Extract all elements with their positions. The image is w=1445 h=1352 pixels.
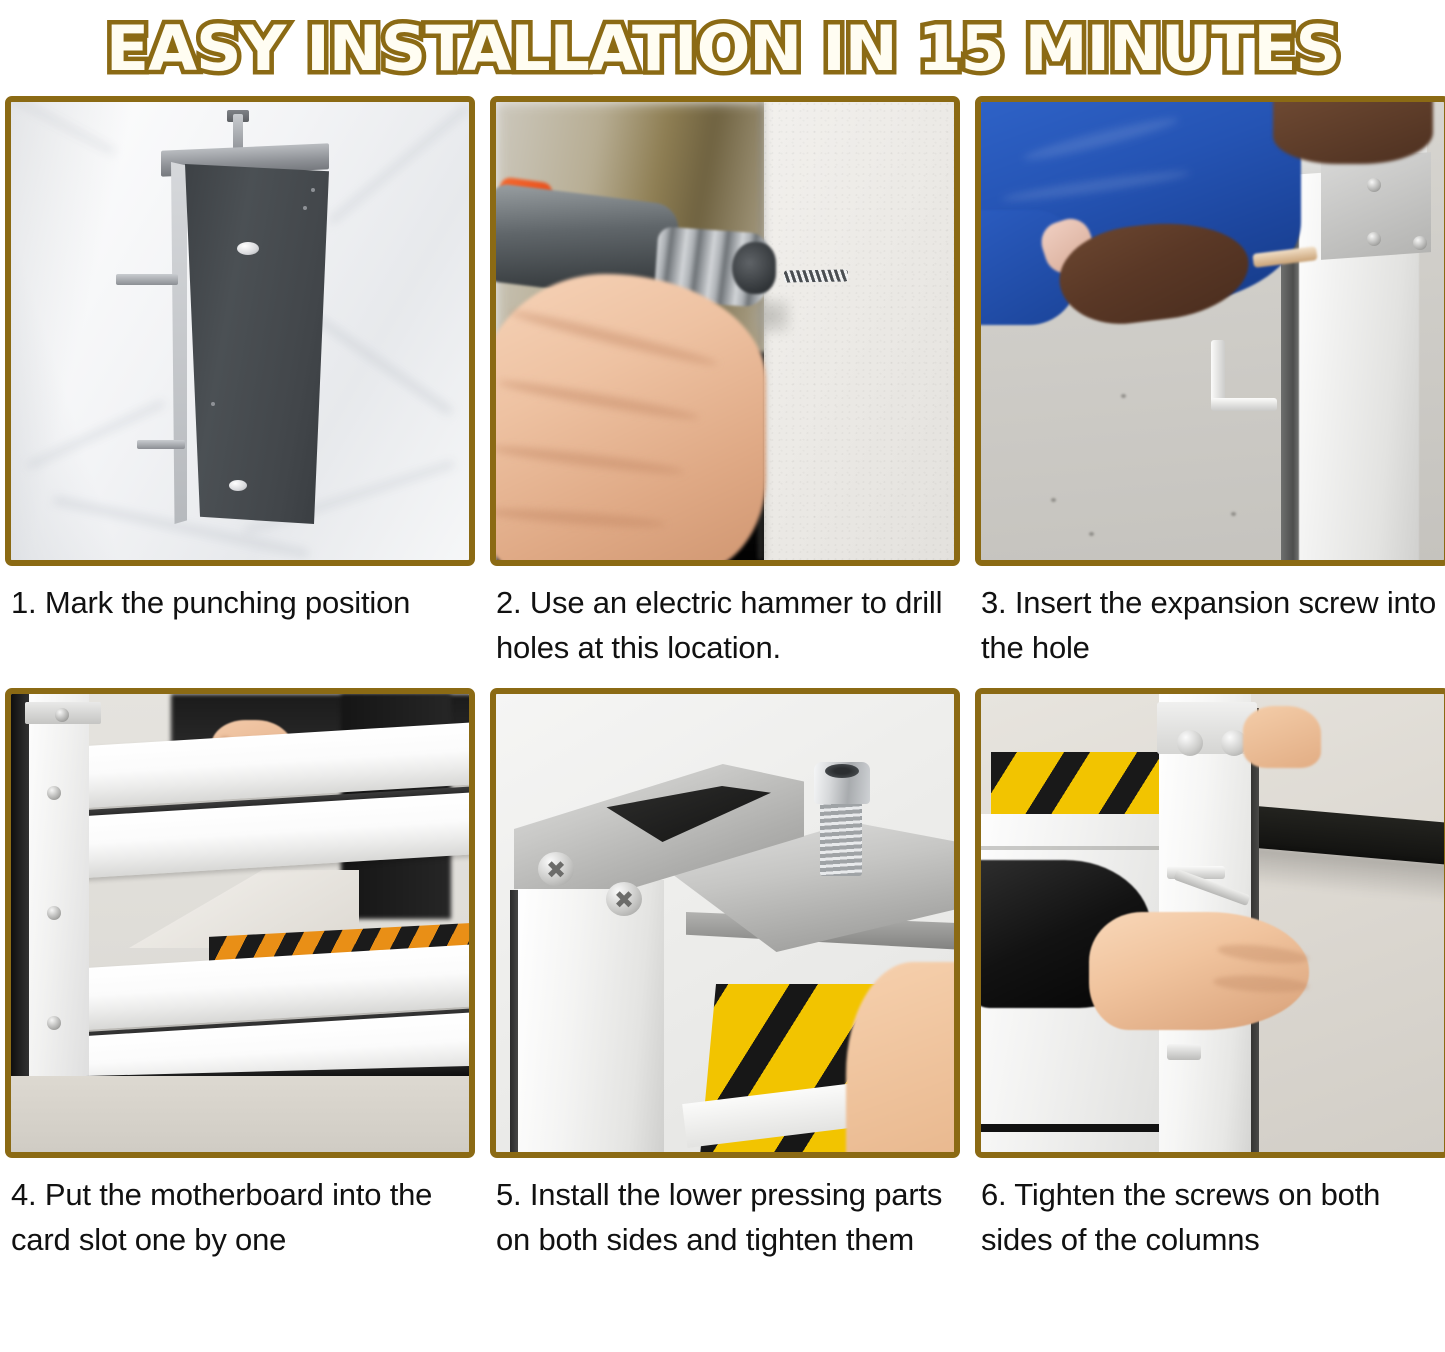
panel-groove (981, 1124, 1163, 1132)
post-screw (47, 906, 61, 920)
white-column-post (29, 694, 89, 1094)
row-spacer (0, 670, 1445, 688)
side-bolt-upper (116, 274, 178, 285)
step-caption-4: 4. Put the motherboard into the card slo… (5, 1158, 475, 1262)
bracket-body (179, 164, 329, 524)
floor (11, 1076, 469, 1152)
allen-key-foot (1211, 398, 1277, 411)
drill-chuck-nose (732, 242, 776, 294)
photo-step-3-content (981, 102, 1444, 560)
hazard-stripe-tape (991, 752, 1161, 814)
header-banner: EASY INSTALLATION IN 15 MINUTES (0, 0, 1445, 96)
clamp-thumbscrew (814, 762, 870, 882)
bracket-hole-lower (229, 480, 247, 491)
floor-speck (1089, 532, 1094, 536)
step-caption-1: 1. Mark the punching position (5, 566, 475, 625)
column-screw (1177, 730, 1203, 756)
photo-step-6-tighten-screws[interactable] (975, 688, 1445, 1158)
photo-step-4-boards-into-slot[interactable] (5, 688, 475, 1158)
step-card-3: 3. Insert the expansion screw into the h… (975, 96, 1445, 670)
plate-screw (1367, 178, 1381, 192)
photo-step-4-content (11, 694, 469, 1152)
photo-step-5-content: ✖ ✖ (496, 694, 954, 1152)
photo-step-2-content (496, 102, 954, 560)
side-bolt-lower (137, 440, 185, 449)
floor-speck (1051, 498, 1056, 502)
page-title: EASY INSTALLATION IN 15 MINUTES (105, 17, 1339, 81)
photo-step-1-bracket[interactable] (5, 96, 475, 566)
hand (1089, 912, 1309, 1030)
white-column (518, 880, 664, 1152)
surface-speck (311, 188, 315, 192)
surface-speck (211, 402, 215, 406)
step-card-1: 1. Mark the punching position (5, 96, 475, 670)
lower-screw (1167, 1044, 1201, 1060)
step-caption-5: 5. Install the lower pressing parts on b… (490, 1158, 960, 1262)
upper-hand (1273, 102, 1433, 164)
step-caption-6: 6. Tighten the screws on both sides of t… (975, 1158, 1445, 1262)
drill-dust (751, 298, 791, 334)
upper-hand (1243, 706, 1321, 768)
step-card-2: 2. Use an electric hammer to drill holes… (490, 96, 960, 670)
step-card-5: ✖ ✖ 5. Install the lower pressing parts … (490, 688, 960, 1262)
post-screw (47, 1016, 61, 1030)
textured-wall (764, 102, 954, 560)
drill-bit (784, 269, 848, 282)
surface-speck (303, 206, 307, 210)
allen-key-shaft (1211, 340, 1225, 406)
photo-step-1-content (11, 102, 469, 560)
panel-groove (981, 846, 1163, 850)
photo-step-3-expansion-screw[interactable] (975, 96, 1445, 566)
steps-grid-row-2: 4. Put the motherboard into the card slo… (0, 688, 1445, 1262)
bolt-thread (820, 802, 862, 876)
photo-step-5-pressing-parts[interactable]: ✖ ✖ (490, 688, 960, 1158)
plate-screw (1413, 236, 1427, 250)
bolt-socket-hole (825, 764, 859, 778)
screw-cross-icon: ✖ (614, 888, 634, 912)
screw-cross-icon: ✖ (546, 858, 566, 882)
post-screw (55, 708, 69, 722)
bracket-hole-upper (237, 242, 259, 255)
step-caption-3: 3. Insert the expansion screw into the h… (975, 566, 1445, 670)
step-card-6: 6. Tighten the screws on both sides of t… (975, 688, 1445, 1262)
plate-screw (1367, 232, 1381, 246)
step-card-4: 4. Put the motherboard into the card slo… (5, 688, 475, 1262)
photo-step-2-drilling[interactable] (490, 96, 960, 566)
floor-speck (1121, 394, 1126, 398)
post-screw (47, 786, 61, 800)
floor-speck (1231, 512, 1236, 516)
steps-grid-row-1: 1. Mark the punching position (0, 96, 1445, 670)
photo-step-6-content (981, 694, 1444, 1152)
step-caption-2: 2. Use an electric hammer to drill holes… (490, 566, 960, 670)
